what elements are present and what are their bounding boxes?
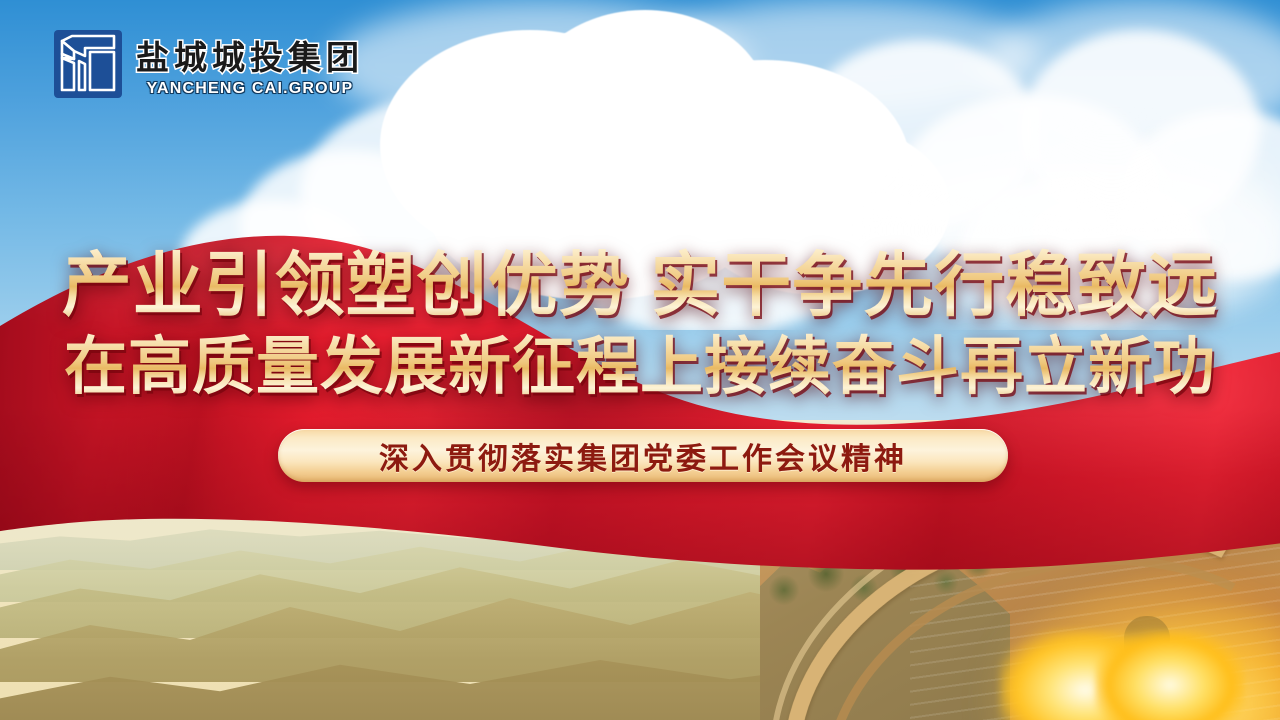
brand-logo[interactable]: 盐城城投集团 YANCHENG CAI.GROUP — [52, 28, 364, 100]
subtitle-banner: 深入贯彻落实集团党委工作会议精神 — [278, 429, 1008, 482]
headline-line-1: 产业引领塑创优势 实干争先行稳致远 — [0, 248, 1280, 322]
banner-poster: 产业引领塑创优势 实干争先行稳致远 在高质量发展新征程上接续奋斗再立新功 深入贯… — [0, 0, 1280, 720]
headline-block: 产业引领塑创优势 实干争先行稳致远 在高质量发展新征程上接续奋斗再立新功 — [0, 248, 1280, 402]
company-logo-icon — [52, 28, 124, 100]
subtitle-text: 深入贯彻落实集团党委工作会议精神 — [379, 434, 907, 478]
brand-logo-text: 盐城城投集团 YANCHENG CAI.GROUP — [136, 31, 364, 98]
headline-line-2: 在高质量发展新征程上接续奋斗再立新功 — [0, 332, 1280, 402]
brand-name-cn: 盐城城投集团 — [136, 31, 364, 79]
sun-flare-orb — [1095, 630, 1245, 720]
brand-name-en: YANCHENG CAI.GROUP — [147, 80, 354, 98]
